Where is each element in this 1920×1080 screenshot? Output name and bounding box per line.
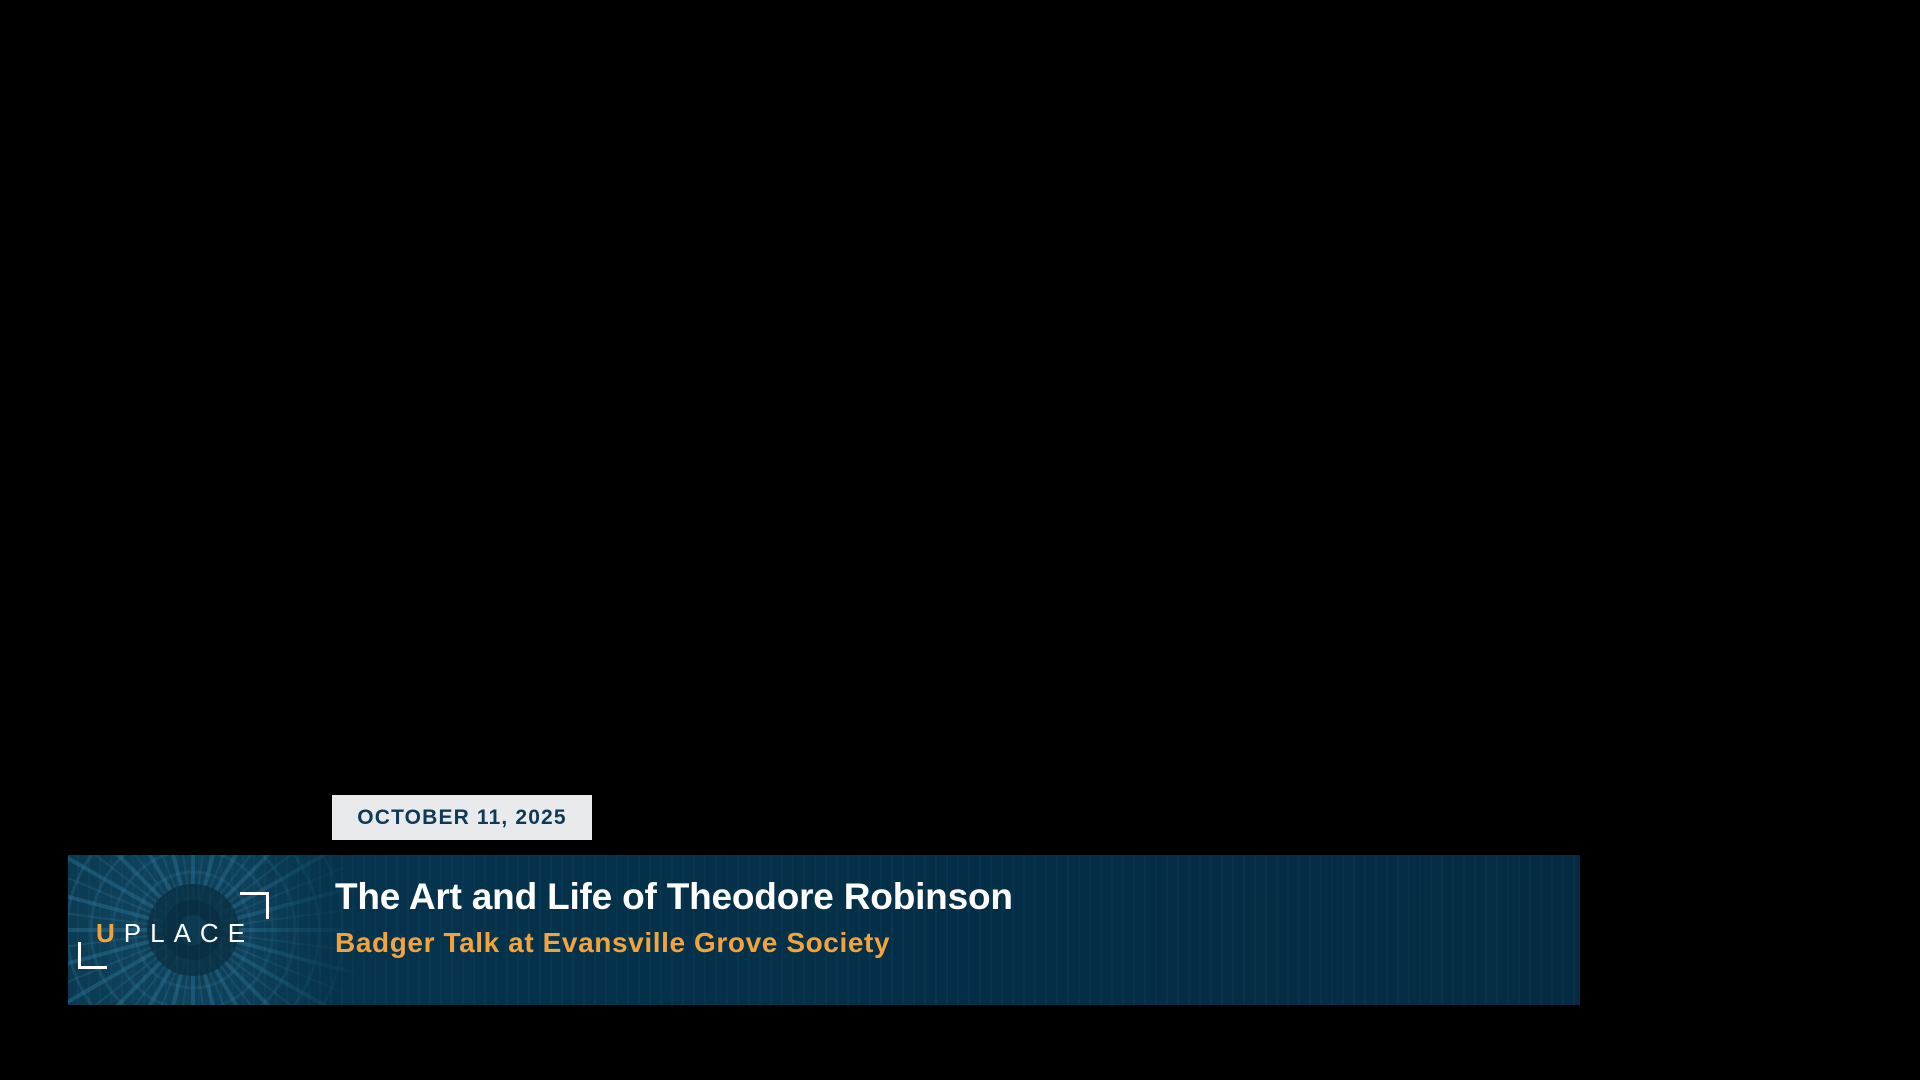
event-date-badge: OCTOBER 11, 2025 bbox=[332, 795, 592, 840]
banner-text-block: The Art and Life of Theodore Robinson Ba… bbox=[335, 876, 1515, 959]
event-date-text: OCTOBER 11, 2025 bbox=[357, 807, 566, 828]
logo-wordmark-rest: PLACE bbox=[124, 918, 254, 948]
bracket-top-right-icon bbox=[240, 892, 269, 919]
event-title: The Art and Life of Theodore Robinson bbox=[335, 876, 1515, 917]
logo-accent-letter: U bbox=[96, 918, 124, 948]
uplace-logo[interactable]: UPLACE bbox=[78, 880, 278, 980]
screen-root: OCTOBER 11, 2025 bbox=[0, 0, 1920, 1080]
event-subtitle: Badger Talk at Evansville Grove Society bbox=[335, 928, 1515, 959]
logo-wordmark: UPLACE bbox=[96, 920, 254, 946]
